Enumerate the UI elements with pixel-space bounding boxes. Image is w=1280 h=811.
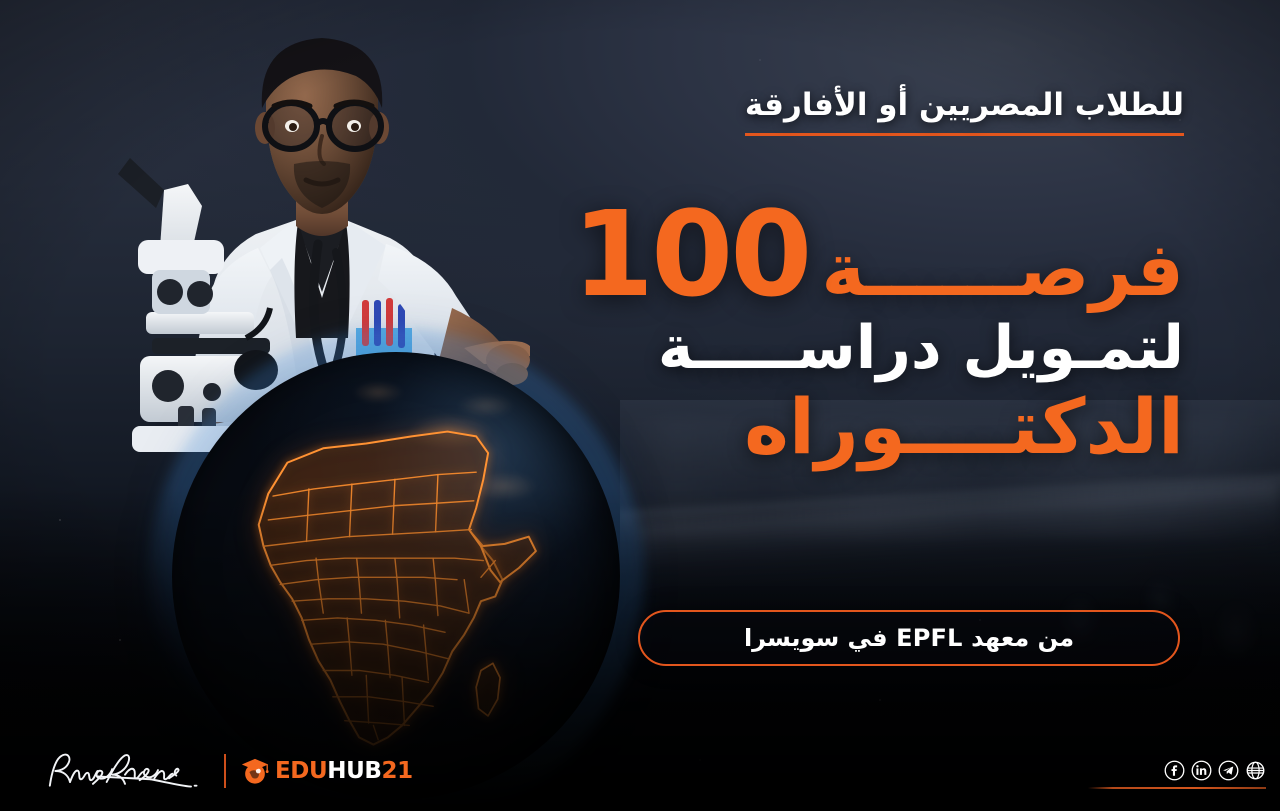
- opportunity-count: 100: [572, 200, 809, 309]
- footer-socials: [1094, 760, 1266, 789]
- headline-block: للطلاب المصريين أو الأفارقة فرصــــــة 1…: [624, 86, 1184, 469]
- badge-prefix: من معهد: [971, 624, 1074, 652]
- social-icon-row: [1094, 760, 1266, 787]
- website-globe-icon[interactable]: [1245, 760, 1266, 781]
- institution-badge: من معهد EPFL في سويسرا: [638, 610, 1180, 666]
- signature-ramzy-abdelaziz: [40, 749, 210, 793]
- brand-hub: HUB: [327, 758, 381, 784]
- headline-line-two: لتمـويل دراســـــة: [624, 314, 1184, 383]
- telegram-icon[interactable]: [1218, 760, 1239, 781]
- brand-wordmark: EDUHUB21: [275, 760, 413, 783]
- poster-root: للطلاب المصريين أو الأفارقة فرصــــــة 1…: [0, 0, 1280, 811]
- footer: EDUHUB21: [0, 699, 1280, 811]
- footer-branding: EDUHUB21: [40, 749, 413, 793]
- headline-line-three: الدكتــــوراه: [624, 385, 1184, 469]
- brand-edu: EDU: [275, 758, 327, 784]
- linkedin-icon[interactable]: [1191, 760, 1212, 781]
- eduhub21-logo[interactable]: EDUHUB21: [240, 756, 413, 786]
- graduation-cap-globe-icon: [240, 756, 270, 786]
- kicker-headline: للطلاب المصريين أو الأفارقة: [745, 86, 1184, 136]
- badge-institution-name: EPFL: [896, 624, 962, 652]
- opportunity-word: فرصــــــة: [821, 233, 1184, 307]
- footer-accent-rule: [1088, 787, 1266, 789]
- footer-divider: [224, 754, 226, 788]
- brand-21: 21: [382, 758, 413, 784]
- facebook-icon[interactable]: [1164, 760, 1185, 781]
- badge-suffix: في سويسرا: [744, 624, 888, 652]
- headline-line-one: فرصــــــة 100: [624, 200, 1184, 309]
